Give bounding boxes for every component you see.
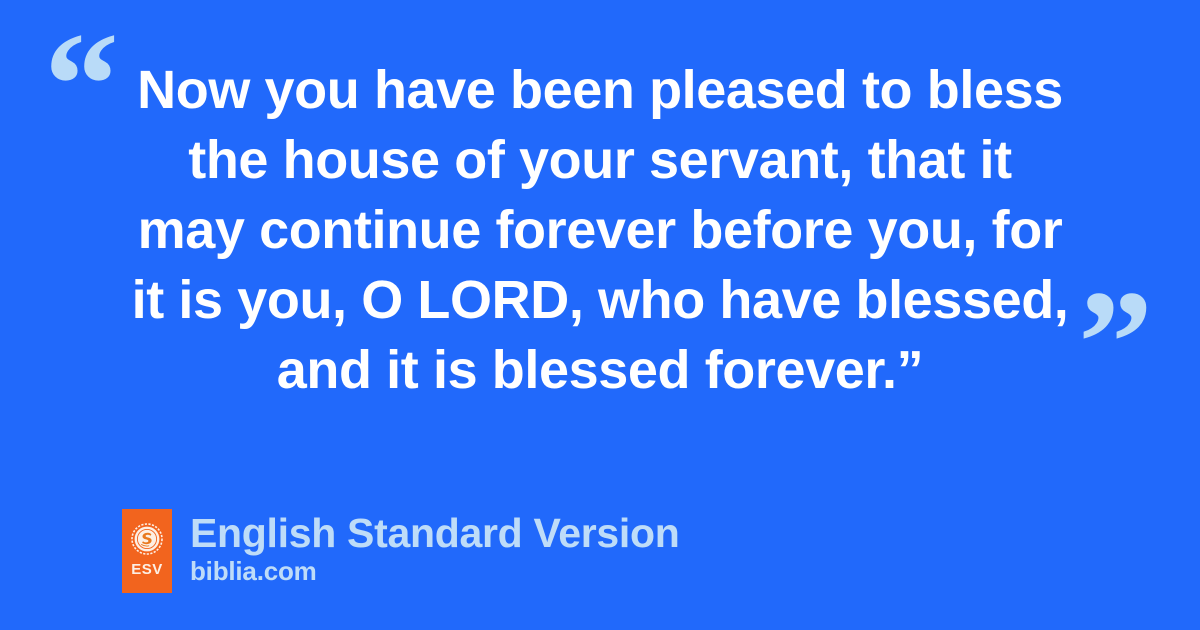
quote-line: Now you have been pleased to bless — [0, 55, 1200, 125]
esv-logo: ESV — [122, 509, 172, 593]
quote-line: the house of your servant, that it — [0, 125, 1200, 195]
esv-seal-icon — [131, 523, 163, 555]
quote-line: may continue forever before you, for — [0, 195, 1200, 265]
attribution-text: English Standard Version biblia.com — [190, 509, 679, 586]
esv-logo-label: ESV — [122, 561, 172, 578]
close-quote-mark-icon: ” — [1078, 268, 1153, 418]
quote-line: and it is blessed forever.” — [0, 335, 1200, 405]
quote-text-block: Now you have been pleased to bless the h… — [0, 55, 1200, 405]
quote-card: “ Now you have been pleased to bless the… — [0, 0, 1200, 630]
attribution: ESV English Standard Version biblia.com — [122, 509, 679, 593]
site-url[interactable]: biblia.com — [190, 556, 679, 586]
quote-line: it is you, O LORD, who have blessed, — [0, 265, 1200, 335]
bible-version-title: English Standard Version — [190, 511, 679, 556]
